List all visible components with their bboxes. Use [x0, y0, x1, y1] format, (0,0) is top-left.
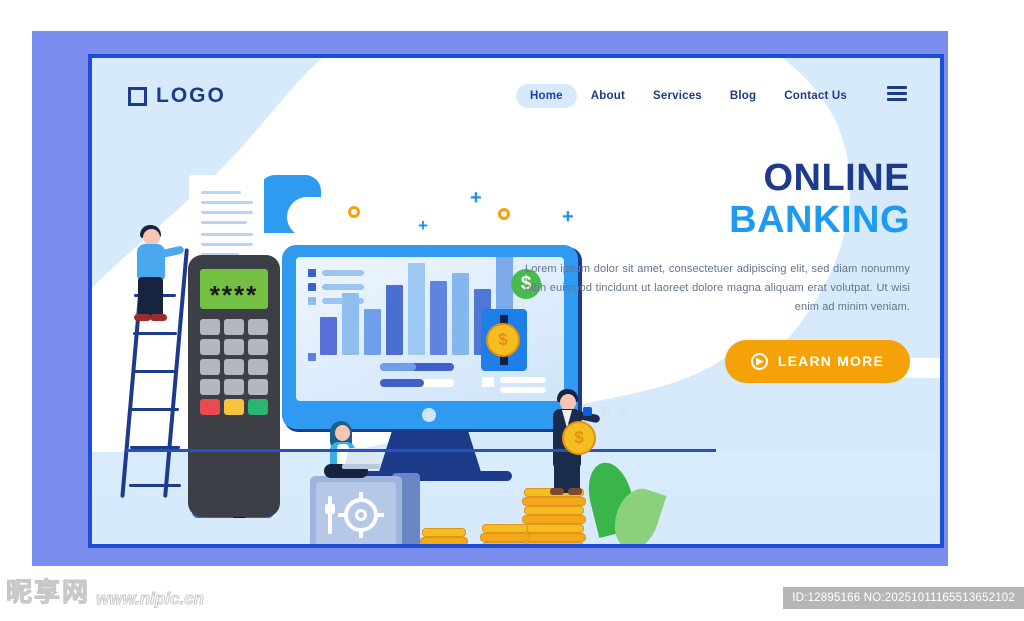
document-white-shape	[287, 197, 345, 237]
person-ladder-legs	[138, 277, 163, 317]
monitor-stand	[378, 429, 482, 475]
coin-in-slot: $	[486, 323, 520, 357]
play-circle-icon: ▶	[751, 353, 768, 370]
person-ladder-shoe-right	[150, 314, 167, 321]
hamburger-bar-2	[887, 92, 907, 95]
pos-key-cancel	[200, 399, 220, 415]
site-header: LOGO Home About Services Blog Contact Us	[92, 58, 940, 138]
pos-terminal: ****	[188, 255, 280, 517]
monitor-power-button	[422, 408, 436, 422]
safe-dial-center	[355, 509, 367, 521]
coin-held-by-person: $	[562, 421, 596, 455]
plus-decoration-icon-1: +	[470, 188, 482, 208]
pos-keypad	[200, 319, 268, 415]
hero-paragraph: Lorem ipsum dolor sit amet, consectetuer…	[525, 260, 910, 318]
logo-square-icon	[128, 87, 147, 106]
ring-decoration-icon-1	[348, 206, 360, 218]
learn-more-button[interactable]: ▶ LEARN MORE	[725, 340, 910, 383]
main-navigation: Home About Services Blog Contact Us	[516, 84, 861, 108]
person-suit-shoe-left	[550, 488, 564, 495]
learn-more-label: LEARN MORE	[778, 353, 884, 369]
logo-text: LOGO	[156, 84, 226, 108]
landing-page: LOGO Home About Services Blog Contact Us…	[92, 58, 940, 544]
hero-section: ONLINE BANKING Lorem ipsum dolor sit ame…	[525, 158, 910, 416]
watermark-left: 昵享网 www.nipic.cn	[6, 572, 204, 609]
chart-bar	[342, 293, 359, 355]
screenshot-canvas: LOGO Home About Services Blog Contact Us…	[0, 0, 1024, 621]
ring-decoration-icon-2	[498, 208, 510, 220]
chart-bar	[320, 317, 337, 355]
chart-bar	[408, 263, 425, 355]
hamburger-icon[interactable]	[887, 86, 907, 104]
person-suit-shoe-right	[568, 488, 582, 495]
nav-item-about[interactable]: About	[577, 84, 639, 108]
watermark-site-name: 昵享网	[6, 572, 90, 609]
logo[interactable]: LOGO	[128, 84, 226, 108]
monitor-screen: $ $	[296, 257, 564, 401]
carousel-dot-1[interactable]	[583, 407, 592, 416]
pos-key-clear	[224, 399, 244, 415]
hero-title-line2: BANKING	[525, 198, 910, 244]
nav-item-home[interactable]: Home	[516, 84, 577, 108]
watermark-site-url: www.nipic.cn	[96, 589, 204, 609]
carousel-dot-3[interactable]	[619, 407, 628, 416]
plus-decoration-icon-2: +	[418, 217, 428, 234]
person-ladder-shoe-left	[134, 314, 151, 321]
safe-handle	[328, 496, 332, 534]
floor-line	[126, 449, 716, 452]
safe-handle-knob	[325, 504, 335, 514]
pos-key-enter	[248, 399, 268, 415]
chart-bar	[364, 309, 381, 355]
watermark-id: ID:12895166 NO:20251011165513652102	[783, 587, 1024, 609]
hamburger-bar-3	[887, 98, 907, 101]
person-laptop-head	[335, 425, 350, 441]
chart-bar	[452, 273, 469, 355]
pos-screen-pin: ****	[200, 269, 268, 309]
nav-item-blog[interactable]: Blog	[716, 84, 770, 108]
chart-bar	[430, 281, 447, 355]
nav-item-services[interactable]: Services	[639, 84, 716, 108]
nav-item-contact-us[interactable]: Contact Us	[770, 84, 861, 108]
carousel-dots	[525, 407, 910, 416]
hamburger-bar-1	[887, 86, 907, 89]
chart-bar	[386, 285, 403, 355]
laptop-base	[342, 464, 380, 469]
carousel-dot-2[interactable]	[601, 407, 610, 416]
hero-title-line1: ONLINE	[525, 158, 910, 198]
